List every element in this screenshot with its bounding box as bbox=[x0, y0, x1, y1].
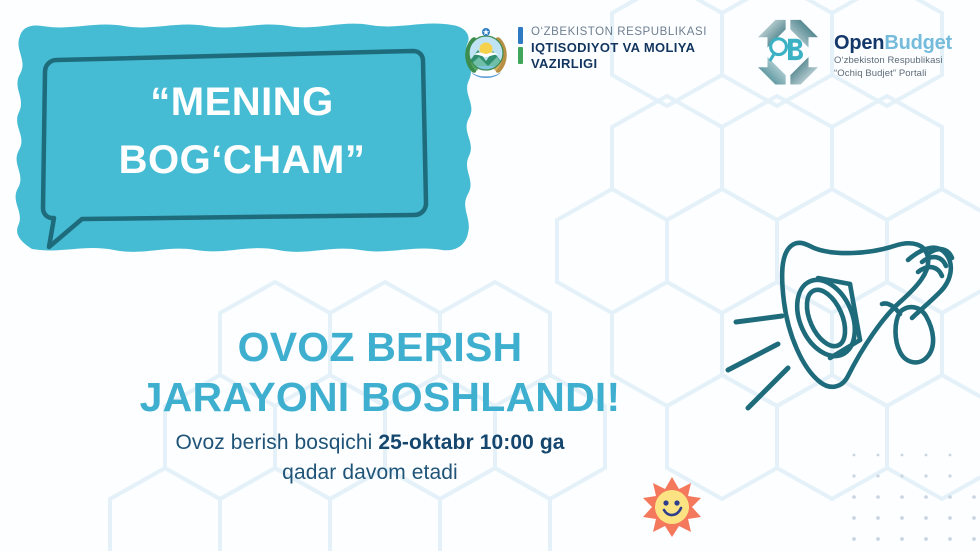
speech-bubble: “MENING BOG‘CHAM” bbox=[2, 14, 482, 264]
speech-bubble-text: “MENING BOG‘CHAM” bbox=[2, 14, 482, 264]
ministry-text: O‘ZBEKISTON RESPUBLIKASI IQTISODIYOT VA … bbox=[531, 22, 707, 73]
subtitle-row-1: Ovoz berish bosqichi 25-oktabr 10:00 ga bbox=[0, 428, 740, 458]
ministry-line-2: IQTISODIYOT VA MOLIYA bbox=[531, 40, 707, 57]
openbudget-title-budget: Budget bbox=[884, 32, 952, 54]
bubble-line-2: BOG‘CHAM” bbox=[119, 131, 366, 189]
ministry-logo: O‘ZBEKISTON RESPUBLIKASI IQTISODIYOT VA … bbox=[462, 22, 707, 82]
uzbekistan-state-emblem-icon bbox=[462, 24, 510, 82]
smiling-sun-icon bbox=[641, 476, 703, 538]
subtitle: Ovoz berish bosqichi 25-oktabr 10:00 ga … bbox=[0, 428, 740, 489]
openbudget-logo: OpenBudget O‘zbekiston Respublikasi “Och… bbox=[748, 12, 952, 94]
poster-canvas: “MENING BOG‘CHAM” bbox=[0, 0, 980, 551]
ministry-line-3: VAZIRLIGI bbox=[531, 56, 707, 73]
dot-grid-pattern bbox=[840, 441, 980, 551]
headline-line-2: JARAYONI BOSHLANDI! bbox=[0, 372, 760, 422]
subtitle-prefix: Ovoz berish bosqichi bbox=[175, 431, 378, 454]
ministry-line-1: O‘ZBEKISTON RESPUBLIKASI bbox=[531, 25, 707, 40]
headline: OVOZ BERISH JARAYONI BOSHLANDI! bbox=[0, 322, 760, 422]
openbudget-subtitle-1: O‘zbekiston Respublikasi bbox=[834, 55, 952, 68]
accent-bar-blue bbox=[518, 27, 523, 44]
openbudget-title: OpenBudget bbox=[834, 31, 952, 55]
openbudget-subtitle-2: “Ochiq Budjet” Portali bbox=[834, 68, 952, 81]
subtitle-row-2: qadar davom etadi bbox=[0, 458, 740, 488]
headline-line-1: OVOZ BERISH bbox=[0, 322, 760, 372]
megaphone-icon bbox=[722, 222, 980, 440]
openbudget-text: OpenBudget O‘zbekiston Respublikasi “Och… bbox=[834, 25, 952, 80]
openbudget-title-open: Open bbox=[834, 32, 884, 54]
accent-bar-green bbox=[518, 47, 523, 64]
ministry-accent-bars bbox=[518, 27, 523, 64]
subtitle-deadline: 25-oktabr 10:00 ga bbox=[378, 431, 564, 454]
open-budget-diamond-icon bbox=[748, 12, 828, 94]
bubble-line-1: “MENING bbox=[150, 73, 334, 131]
